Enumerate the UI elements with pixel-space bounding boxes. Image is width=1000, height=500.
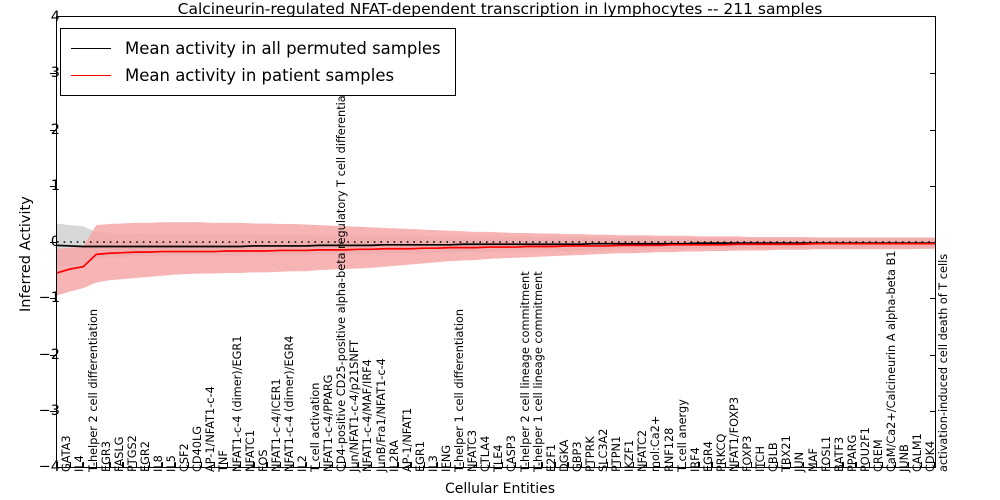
x-axis-tick-label: GATA3 bbox=[61, 435, 72, 472]
x-axis-tick-label: IL3 bbox=[428, 455, 439, 472]
x-axis-tick-label: IFNG bbox=[441, 445, 452, 472]
x-axis-tick-label: NFAT1-c-4/ICER1 bbox=[271, 378, 282, 472]
x-axis-tick-label: NFAT1-c-4 (dimer)/EGR4 bbox=[284, 336, 295, 472]
x-axis-tick-label: NFAT1/FOXP3 bbox=[729, 397, 740, 472]
x-axis-tick-label: PRKCQ bbox=[716, 434, 727, 472]
legend-entry-permuted: Mean activity in all permuted samples bbox=[71, 35, 441, 62]
x-axis-tick-label: CD4-positive CD25-positive alpha-beta re… bbox=[336, 74, 347, 472]
x-axis-tick-label: IL2 bbox=[297, 455, 308, 472]
x-axis-tick-label: IL2RA bbox=[389, 440, 400, 472]
x-axis-tick-label: EGR3 bbox=[101, 441, 112, 472]
x-axis-tick-label: CREM bbox=[873, 439, 884, 472]
x-axis-tick-label: NFAT1-c-4/PPARG bbox=[323, 375, 334, 472]
x-axis-tick-label: CALM1 bbox=[912, 433, 923, 472]
x-axis-tick-label: BATF3 bbox=[834, 437, 845, 472]
x-axis-tick-label: IL4 bbox=[74, 455, 85, 472]
x-axis-tick-label: RNF128 bbox=[664, 428, 675, 472]
legend-swatch-permuted bbox=[71, 48, 111, 49]
y-axis-tick-label: −4 bbox=[10, 459, 60, 475]
x-axis-tick-mark bbox=[57, 462, 58, 468]
x-axis-tick-label: T cell anergy bbox=[677, 399, 688, 472]
x-axis-tick-label: JUN bbox=[794, 452, 805, 472]
x-axis-tick-label: PTGS2 bbox=[127, 435, 138, 472]
x-axis-tick-label: T-helper 2 cell lineage commitment bbox=[520, 271, 531, 472]
figure-canvas: Calcineurin-regulated NFAT-dependent tra… bbox=[0, 0, 1000, 500]
x-axis-tick-label: T cell activation bbox=[310, 383, 321, 472]
x-axis-tick-label: JunB/Fra1/NFAT1-c-4 bbox=[376, 358, 387, 472]
x-axis-tick-label: ITCH bbox=[755, 446, 766, 472]
x-axis-tick-label: FASLG bbox=[114, 437, 125, 472]
x-axis-tick-label: IL5 bbox=[166, 455, 177, 472]
confidence-band-patient bbox=[57, 213, 935, 296]
x-axis-tick-label: FOXP3 bbox=[742, 436, 753, 472]
x-axis-tick-label: PTPN1 bbox=[611, 436, 622, 472]
x-axis-tick-label: CSF2 bbox=[179, 443, 190, 472]
x-axis-tick-label: CaM/Ca2+/Calcineurin A alpha-beta B1 bbox=[886, 251, 897, 472]
x-axis-tick-label: EGR4 bbox=[703, 441, 714, 472]
x-axis-tick-label: NFATC1 bbox=[245, 430, 256, 472]
x-axis-tick-label: activation-induced cell death of T cells bbox=[938, 254, 949, 472]
x-axis-tick-label: SLC3A2 bbox=[598, 429, 609, 472]
x-axis-tick-label: T-helper 1 cell differentiation bbox=[454, 309, 465, 472]
x-axis-tick-label: NFATC2 bbox=[637, 430, 648, 472]
x-axis-tick-label: TBX21 bbox=[781, 435, 792, 472]
x-axis-tick-label: MAF bbox=[808, 448, 819, 472]
legend-swatch-patient bbox=[71, 75, 111, 76]
x-axis-tick-label: FOS bbox=[258, 449, 269, 472]
x-axis-tick-label: CASP3 bbox=[506, 435, 517, 472]
x-axis-tick-label: IL8 bbox=[153, 455, 164, 472]
y-axis-tick-label: 4 bbox=[10, 9, 60, 25]
x-axis-tick-label: T-helper 2 cell differentiation bbox=[88, 309, 99, 472]
x-axis-tick-label: PPARG bbox=[847, 435, 858, 472]
x-axis-tick-label: CBLB bbox=[768, 442, 779, 472]
legend-label-permuted: Mean activity in all permuted samples bbox=[125, 39, 441, 58]
x-axis-tick-label: mol:Ca2+ bbox=[650, 416, 661, 472]
x-axis-tick-label: POU2F1 bbox=[860, 427, 871, 472]
x-axis-tick-label: CD40LG bbox=[192, 426, 203, 472]
x-axis-tick-label: AP-1/NFAT1-c-4 bbox=[205, 386, 216, 472]
x-axis-tick-label: CDK4 bbox=[925, 441, 936, 472]
x-axis-tick-label: AP-1/NFAT1 bbox=[402, 408, 413, 472]
x-axis-tick-label: T-helper 1 cell lineage commitment bbox=[533, 271, 544, 472]
x-axis-tick-label: JUNB bbox=[899, 444, 910, 472]
x-axis-tick-label: E2F1 bbox=[546, 444, 557, 472]
x-axis-tick-label: TLE4 bbox=[493, 444, 504, 472]
x-axis-tick-label: NFATC3 bbox=[467, 430, 478, 472]
x-axis-tick-label: CTLA4 bbox=[480, 436, 491, 472]
x-axis-tick-label: IRF4 bbox=[690, 447, 701, 472]
x-axis-tick-label: EGR1 bbox=[415, 441, 426, 472]
legend-entry-patient: Mean activity in patient samples bbox=[71, 62, 441, 89]
x-axis-tick-label: Jun/NFAT1-c-4/p21SNFT bbox=[349, 340, 360, 472]
legend-label-patient: Mean activity in patient samples bbox=[125, 66, 394, 85]
x-axis-tick-label: NFAT1-c-4/MAF/IRF4 bbox=[362, 359, 373, 472]
x-axis-tick-label: FOSL1 bbox=[821, 436, 832, 472]
x-axis-label: Cellular Entities bbox=[0, 481, 1000, 497]
x-axis-tick-label: EGR2 bbox=[140, 441, 151, 472]
x-axis-tick-label: TNF bbox=[218, 450, 229, 472]
x-axis-tick-label: GBP3 bbox=[572, 441, 583, 472]
x-axis-tick-label: PTPRK bbox=[585, 436, 596, 472]
x-axis-tick-label: IKZF1 bbox=[624, 440, 635, 472]
x-axis-tick-label: DGKA bbox=[559, 440, 570, 472]
chart-legend: Mean activity in all permuted samples Me… bbox=[60, 28, 456, 96]
x-axis-tick-label: NFAT1-c-4 (dimer)/EGR1 bbox=[232, 336, 243, 472]
